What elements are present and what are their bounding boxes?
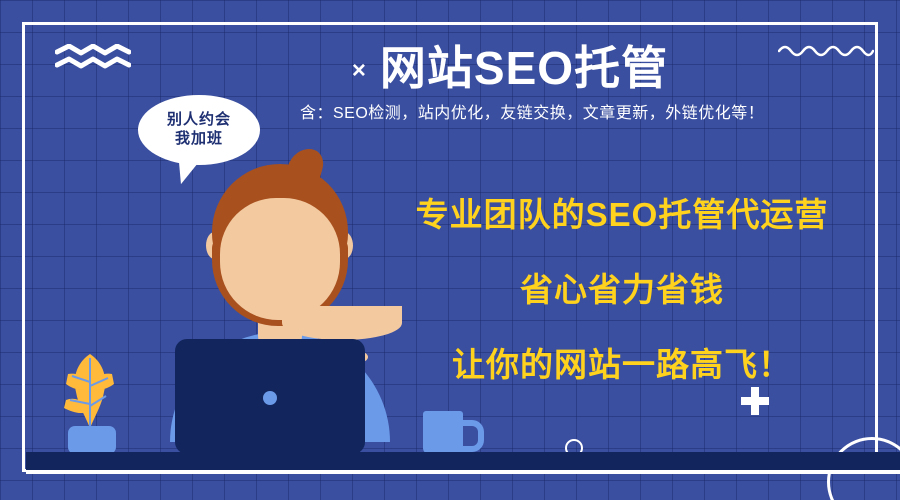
slogan-line-2: 省心省力省钱 [372,263,872,311]
headline-block: × 网站SEO托管 含：SEO检测，站内优化，友链交换，文章更新，外链优化等！ [300,44,720,125]
speech-bubble-line-2: 我加班 [175,130,223,149]
plant-pot [68,426,116,454]
wavy-line-icon [778,42,874,58]
plus-mark-icon [741,387,769,415]
mug-handle [460,420,484,452]
desk-surface [26,452,900,472]
face [220,198,340,320]
coffee-mug [423,411,463,454]
title-row: × 网站SEO托管 [300,44,720,92]
seo-promo-banner: × 网站SEO托管 含：SEO检测，站内优化，友链交换，文章更新，外链优化等！ … [0,0,900,500]
laptop-logo-icon [263,391,277,405]
leaf-icon [58,352,122,432]
page-title: 网站SEO托管 [380,44,668,92]
speech-bubble-line-1: 别人约会 [167,111,231,130]
desk-edge-line [26,470,900,474]
wave-lines-icon [55,44,131,70]
x-mark-icon: × [352,59,366,83]
page-subtitle: 含：SEO检测，站内优化，友链交换，文章更新，外链优化等！ [300,104,720,125]
speech-bubble: 别人约会 我加班 [138,95,260,165]
slogan-line-3: 让你的网站一路高飞！ [372,338,872,386]
laptop [175,339,365,454]
potted-plant [58,352,122,454]
slogan-block: 专业团队的SEO托管代运营 省心省力省钱 让你的网站一路高飞！ [372,188,872,386]
slogan-line-1: 专业团队的SEO托管代运营 [372,188,872,236]
